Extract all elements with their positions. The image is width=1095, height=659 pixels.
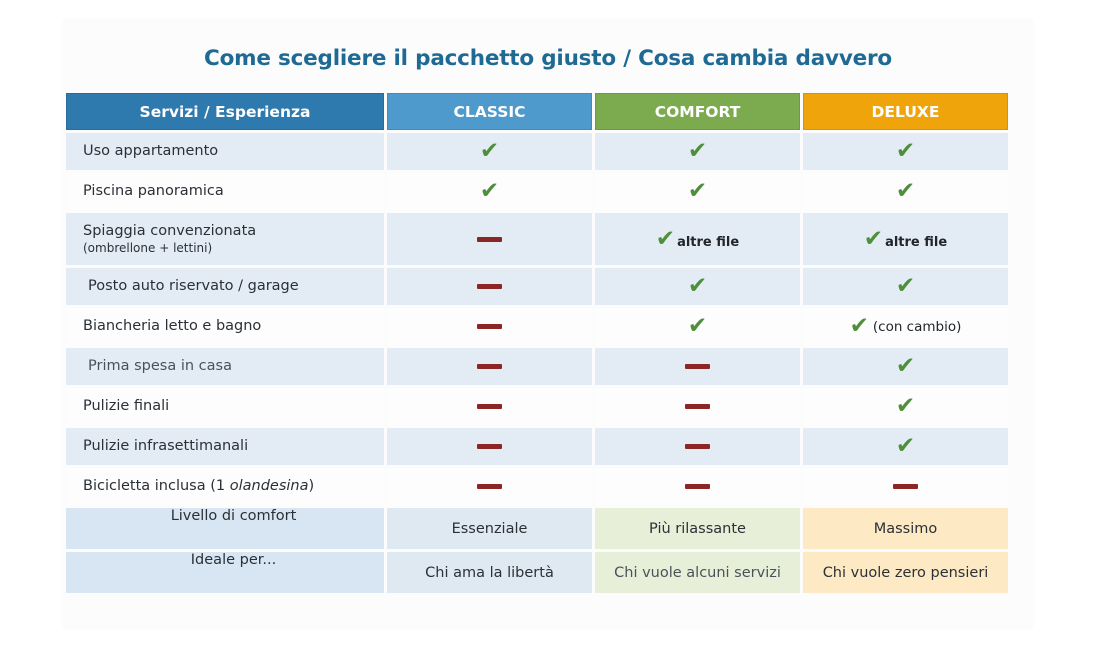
- cell-classic: [387, 388, 592, 425]
- header-cell-comfort: COMFORT: [595, 93, 800, 130]
- mark-comfort: ✔ altre file: [656, 228, 739, 251]
- check-icon: ✔: [480, 140, 499, 163]
- mark-deluxe: ✔: [896, 355, 915, 378]
- row-label-cell: Piscina panoramica: [66, 173, 384, 210]
- mark-comfort: ✔: [688, 140, 707, 163]
- mark-classic: [477, 444, 502, 449]
- summary-value-classic: Essenziale: [452, 521, 528, 537]
- mark-deluxe: ✔: [896, 180, 915, 203]
- table-row: Biancheria letto e bagno ✔ ✔ (con cambio…: [66, 308, 1026, 345]
- summary-value-deluxe: Massimo: [874, 521, 938, 537]
- check-icon: ✔: [850, 315, 869, 338]
- summary-row-ideal-for: Ideale per... Chi ama la libertà Chi vuo…: [66, 552, 1026, 593]
- summary-cell-comfort: Più rilassante: [595, 508, 800, 549]
- cell-deluxe: ✔: [803, 348, 1008, 385]
- mark-comfort: [685, 484, 710, 489]
- cell-classic: [387, 348, 592, 385]
- dash-icon: [685, 484, 710, 489]
- header-label-classic: CLASSIC: [453, 103, 525, 121]
- cell-deluxe: ✔: [803, 388, 1008, 425]
- summary-value-classic: Chi ama la libertà: [425, 565, 554, 581]
- mark-classic: [477, 484, 502, 489]
- row-label: Pulizie finali: [83, 397, 169, 415]
- cell-classic: ✔: [387, 133, 592, 170]
- check-icon: ✔: [688, 140, 707, 163]
- cell-comfort: [595, 428, 800, 465]
- dash-icon: [477, 484, 502, 489]
- summary-value-comfort: Chi vuole alcuni servizi: [614, 565, 781, 581]
- dash-icon: [477, 324, 502, 329]
- mark-comfort: [685, 404, 710, 409]
- summary-cell-classic: Chi ama la libertà: [387, 552, 592, 593]
- row-label-cell: Posto auto riservato / garage: [66, 268, 384, 305]
- row-label: Pulizie infrasettimanali: [83, 437, 248, 455]
- mark-classic: [477, 364, 502, 369]
- cell-classic: ✔: [387, 173, 592, 210]
- header-cell-services: Servizi / Esperienza: [66, 93, 384, 130]
- comparison-table: Servizi / Esperienza CLASSIC COMFORT DEL…: [66, 93, 1026, 596]
- mark-deluxe: ✔: [896, 140, 915, 163]
- table-row: Spiaggia convenzionata (ombrellone + let…: [66, 213, 1026, 265]
- summary-cell-deluxe: Massimo: [803, 508, 1008, 549]
- row-label: Piscina panoramica: [83, 182, 224, 200]
- mark-classic: [477, 237, 502, 242]
- check-icon: ✔: [688, 180, 707, 203]
- cell-deluxe: ✔: [803, 133, 1008, 170]
- cell-note: (con cambio): [873, 319, 962, 335]
- cell-comfort: [595, 348, 800, 385]
- header-label-services: Servizi / Esperienza: [140, 103, 311, 121]
- header-cell-deluxe: DELUXE: [803, 93, 1008, 130]
- row-label: Uso appartamento: [83, 142, 218, 160]
- check-icon: ✔: [688, 315, 707, 338]
- summary-label: Livello di comfort: [171, 508, 297, 524]
- cell-comfort: ✔: [595, 133, 800, 170]
- cell-classic: [387, 268, 592, 305]
- mark-classic: ✔: [480, 180, 499, 203]
- check-icon: ✔: [480, 180, 499, 203]
- mark-deluxe: ✔: [896, 275, 915, 298]
- check-icon: ✔: [896, 355, 915, 378]
- cell-note: altre file: [677, 235, 739, 250]
- table-row: Pulizie finali ✔: [66, 388, 1026, 425]
- summary-label-cell: Livello di comfort: [66, 508, 384, 549]
- row-label-cell: Uso appartamento: [66, 133, 384, 170]
- check-icon: ✔: [656, 228, 675, 251]
- row-label-cell: Spiaggia convenzionata (ombrellone + let…: [66, 213, 384, 265]
- summary-label: Ideale per...: [191, 552, 276, 568]
- row-label-cell: Biancheria letto e bagno: [66, 308, 384, 345]
- comparison-table-page: Come scegliere il pacchetto giusto / Cos…: [0, 0, 1095, 659]
- row-sublabel: (ombrellone + lettini): [83, 241, 212, 256]
- table-row: Bicicletta inclusa (1 olandesina): [66, 468, 1026, 505]
- cell-comfort: [595, 388, 800, 425]
- mark-deluxe: [893, 484, 918, 489]
- mark-classic: [477, 404, 502, 409]
- mark-deluxe: ✔: [896, 395, 915, 418]
- cell-deluxe: ✔: [803, 268, 1008, 305]
- cell-comfort: ✔: [595, 308, 800, 345]
- cell-comfort: ✔: [595, 268, 800, 305]
- cell-deluxe: ✔ altre file: [803, 213, 1008, 265]
- cell-deluxe: ✔ (con cambio): [803, 308, 1008, 345]
- table-row: Prima spesa in casa ✔: [66, 348, 1026, 385]
- cell-note: altre file: [885, 235, 947, 250]
- cell-classic: [387, 428, 592, 465]
- cell-comfort: [595, 468, 800, 505]
- dash-icon: [685, 364, 710, 369]
- dash-icon: [477, 237, 502, 242]
- dash-icon: [477, 364, 502, 369]
- row-label: Posto auto riservato / garage: [83, 277, 299, 295]
- cell-classic: [387, 468, 592, 505]
- mark-comfort: ✔: [688, 275, 707, 298]
- mark-deluxe: ✔ altre file: [864, 228, 947, 251]
- check-icon: ✔: [896, 180, 915, 203]
- check-icon: ✔: [896, 140, 915, 163]
- summary-row-comfort-level: Livello di comfort Essenziale Più rilass…: [66, 508, 1026, 549]
- summary-label-cell: Ideale per...: [66, 552, 384, 593]
- cell-deluxe: ✔: [803, 428, 1008, 465]
- dash-icon: [477, 444, 502, 449]
- dash-icon: [685, 444, 710, 449]
- mark-classic: [477, 284, 502, 289]
- dash-icon: [893, 484, 918, 489]
- row-label: Bicicletta inclusa (1 olandesina): [83, 477, 314, 495]
- mark-comfort: [685, 444, 710, 449]
- summary-cell-comfort: Chi vuole alcuni servizi: [595, 552, 800, 593]
- summary-cell-classic: Essenziale: [387, 508, 592, 549]
- cell-classic: [387, 308, 592, 345]
- cell-deluxe: ✔: [803, 173, 1008, 210]
- check-icon: ✔: [864, 228, 883, 251]
- mark-comfort: ✔: [688, 180, 707, 203]
- table-row: Pulizie infrasettimanali ✔: [66, 428, 1026, 465]
- header-cell-classic: CLASSIC: [387, 93, 592, 130]
- check-icon: ✔: [896, 275, 915, 298]
- dash-icon: [477, 404, 502, 409]
- dash-icon: [685, 404, 710, 409]
- mark-comfort: ✔: [688, 315, 707, 338]
- mark-classic: [477, 324, 502, 329]
- row-label-cell: Pulizie finali: [66, 388, 384, 425]
- row-label: Spiaggia convenzionata: [83, 222, 256, 240]
- check-icon: ✔: [688, 275, 707, 298]
- header-label-comfort: COMFORT: [655, 103, 741, 121]
- row-label-cell: Bicicletta inclusa (1 olandesina): [66, 468, 384, 505]
- row-label-cell: Prima spesa in casa: [66, 348, 384, 385]
- cell-classic: [387, 213, 592, 265]
- table-header-row: Servizi / Esperienza CLASSIC COMFORT DEL…: [66, 93, 1026, 130]
- check-icon: ✔: [896, 435, 915, 458]
- row-label: Prima spesa in casa: [83, 357, 232, 375]
- mark-classic: ✔: [480, 140, 499, 163]
- dash-icon: [477, 284, 502, 289]
- table-row: Piscina panoramica ✔ ✔ ✔: [66, 173, 1026, 210]
- summary-value-comfort: Più rilassante: [649, 521, 746, 537]
- table-row: Posto auto riservato / garage ✔ ✔: [66, 268, 1026, 305]
- check-icon: ✔: [896, 395, 915, 418]
- mark-deluxe: ✔: [896, 435, 915, 458]
- row-label: Biancheria letto e bagno: [83, 317, 261, 335]
- summary-cell-deluxe: Chi vuole zero pensieri: [803, 552, 1008, 593]
- row-label-cell: Pulizie infrasettimanali: [66, 428, 384, 465]
- cell-deluxe: [803, 468, 1008, 505]
- header-label-deluxe: DELUXE: [872, 103, 940, 121]
- summary-value-deluxe: Chi vuole zero pensieri: [823, 565, 989, 581]
- page-title: Come scegliere il pacchetto giusto / Cos…: [62, 46, 1034, 71]
- cell-comfort: ✔ altre file: [595, 213, 800, 265]
- table-row: Uso appartamento ✔ ✔ ✔: [66, 133, 1026, 170]
- mark-deluxe: ✔ (con cambio): [850, 315, 962, 338]
- cell-comfort: ✔: [595, 173, 800, 210]
- mark-comfort: [685, 364, 710, 369]
